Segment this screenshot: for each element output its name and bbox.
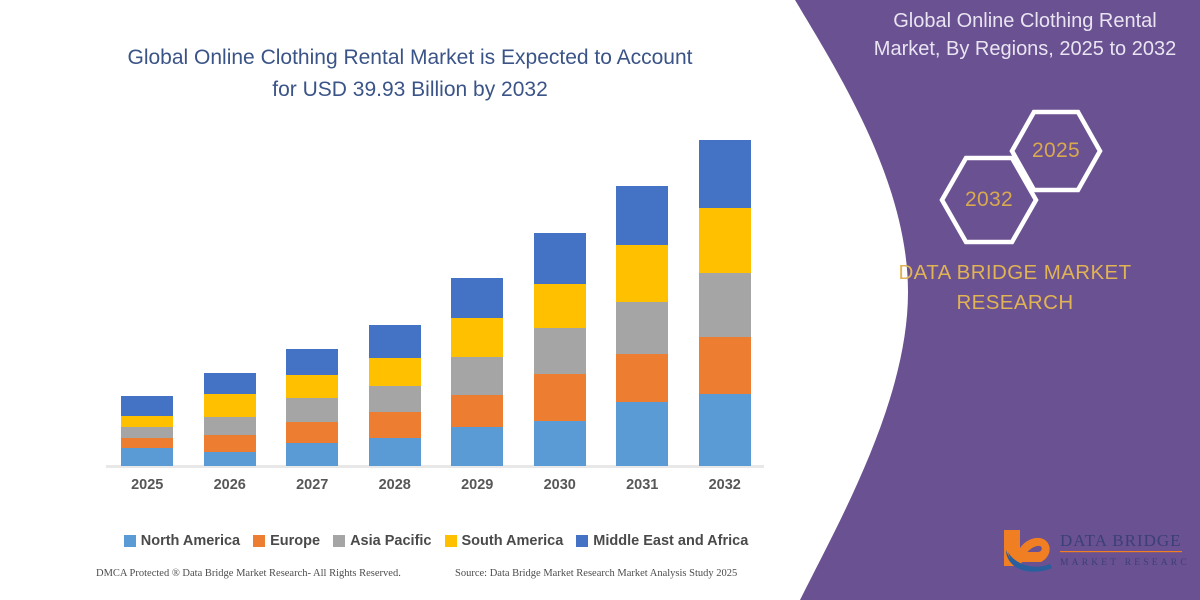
page-title-line-1: Global Online Clothing Rental Market is … xyxy=(60,42,760,74)
page-title-line-2: for USD 39.93 Billion by 2032 xyxy=(60,74,760,106)
bar-segment xyxy=(121,427,173,437)
bar-segment xyxy=(451,427,503,466)
bar-segment xyxy=(616,302,668,354)
legend-item[interactable]: Europe xyxy=(253,533,320,549)
bar-segment xyxy=(369,438,421,466)
footer: DMCA Protected ® Data Bridge Market Rese… xyxy=(0,568,800,590)
bar-segment xyxy=(369,386,421,412)
stacked-bar-chart xyxy=(106,140,766,468)
bar-segment xyxy=(699,208,751,274)
bar-segment xyxy=(534,421,586,466)
bar-segment xyxy=(616,245,668,301)
bar-group xyxy=(121,396,173,466)
bar-segment xyxy=(616,354,668,403)
legend-item[interactable]: Middle East and Africa xyxy=(576,533,748,549)
legend-swatch-icon xyxy=(445,535,457,547)
company-logo: DATA BRIDGE MARKET RESEARCH xyxy=(998,522,1188,578)
bar-segment xyxy=(121,448,173,466)
legend-label: Asia Pacific xyxy=(350,533,431,549)
brand-name-line-1: DATA BRIDGE MARKET xyxy=(840,258,1190,288)
legend-label: Europe xyxy=(270,533,320,549)
x-axis-tick-label: 2032 xyxy=(699,477,751,493)
logo-primary-text: DATA BRIDGE xyxy=(1060,531,1182,550)
brand-panel-title-line-1: Global Online Clothing Rental xyxy=(860,8,1190,36)
page-title: Global Online Clothing Rental Market is … xyxy=(60,42,760,106)
year-hexagons: 2025 2032 xyxy=(920,108,1120,238)
chart-card: Global Online Clothing Rental Market is … xyxy=(0,0,800,600)
bar-segment xyxy=(204,435,256,453)
bar-segment xyxy=(121,416,173,427)
brand-panel: Global Online Clothing Rental Market, By… xyxy=(780,0,1200,600)
bar-segment xyxy=(451,357,503,396)
brand-panel-content: Global Online Clothing Rental Market, By… xyxy=(780,0,1200,600)
bar-group xyxy=(204,373,256,466)
bar-group xyxy=(699,140,751,466)
bar-segment xyxy=(534,233,586,284)
bar-segment xyxy=(616,402,668,466)
x-axis-tick-label: 2030 xyxy=(534,477,586,493)
bar-segment xyxy=(534,374,586,421)
bar-group xyxy=(534,233,586,466)
bar-segment xyxy=(451,278,503,318)
bar-segment xyxy=(451,318,503,357)
hexagon-badge-start-year: 2032 xyxy=(938,154,1040,246)
hexagon-label-start-year: 2032 xyxy=(938,188,1040,212)
bar-segment xyxy=(204,417,256,435)
legend-item[interactable]: South America xyxy=(445,533,564,549)
bar-segment xyxy=(286,375,338,398)
legend-item[interactable]: Asia Pacific xyxy=(333,533,431,549)
data-bridge-logo-icon: DATA BRIDGE MARKET RESEARCH xyxy=(998,522,1188,578)
bar-segment xyxy=(699,337,751,394)
bar-segment xyxy=(534,328,586,374)
x-axis-tick-label: 2025 xyxy=(121,477,173,493)
bar-segment xyxy=(699,140,751,208)
x-axis-labels: 20252026202720282029203020312032 xyxy=(106,477,766,499)
bar-segment xyxy=(286,349,338,375)
bar-group xyxy=(286,349,338,466)
footer-copyright: DMCA Protected ® Data Bridge Market Rese… xyxy=(96,568,401,579)
bar-segment xyxy=(699,394,751,466)
bar-segment xyxy=(369,358,421,386)
chart-legend: North AmericaEuropeAsia PacificSouth Ame… xyxy=(106,529,766,553)
legend-label: North America xyxy=(141,533,240,549)
x-axis-tick-label: 2026 xyxy=(204,477,256,493)
bar-segment xyxy=(616,186,668,245)
x-axis-tick-label: 2029 xyxy=(451,477,503,493)
x-axis-tick-label: 2027 xyxy=(286,477,338,493)
bar-segment xyxy=(286,398,338,422)
bar-segment xyxy=(204,452,256,466)
legend-swatch-icon xyxy=(576,535,588,547)
brand-name-line-2: RESEARCH xyxy=(840,288,1190,318)
bar-segment xyxy=(204,373,256,394)
bar-segment xyxy=(121,438,173,448)
bar-segment xyxy=(699,273,751,337)
bar-segment xyxy=(204,394,256,417)
bar-segment xyxy=(286,443,338,466)
bar-segment xyxy=(451,395,503,427)
legend-swatch-icon xyxy=(124,535,136,547)
brand-panel-title: Global Online Clothing Rental Market, By… xyxy=(860,8,1190,63)
bar-segment xyxy=(534,284,586,329)
logo-secondary-text: MARKET RESEARCH xyxy=(1060,558,1188,568)
legend-label: Middle East and Africa xyxy=(593,533,748,549)
bar-segment xyxy=(369,412,421,438)
brand-panel-title-line-2: Market, By Regions, 2025 to 2032 xyxy=(860,36,1190,64)
bar-segment xyxy=(369,325,421,357)
bar-group xyxy=(616,186,668,466)
x-axis-tick-label: 2028 xyxy=(369,477,421,493)
legend-swatch-icon xyxy=(333,535,345,547)
legend-swatch-icon xyxy=(253,535,265,547)
bar-group xyxy=(451,278,503,466)
legend-label: South America xyxy=(462,533,564,549)
footer-source: Source: Data Bridge Market Research Mark… xyxy=(455,568,737,579)
brand-name: DATA BRIDGE MARKET RESEARCH xyxy=(840,258,1190,317)
bar-segment xyxy=(121,396,173,416)
x-axis-tick-label: 2031 xyxy=(616,477,668,493)
legend-item[interactable]: North America xyxy=(124,533,240,549)
bar-segment xyxy=(286,422,338,443)
infographic-page: Global Online Clothing Rental Market is … xyxy=(0,0,1200,600)
bar-group xyxy=(369,325,421,466)
